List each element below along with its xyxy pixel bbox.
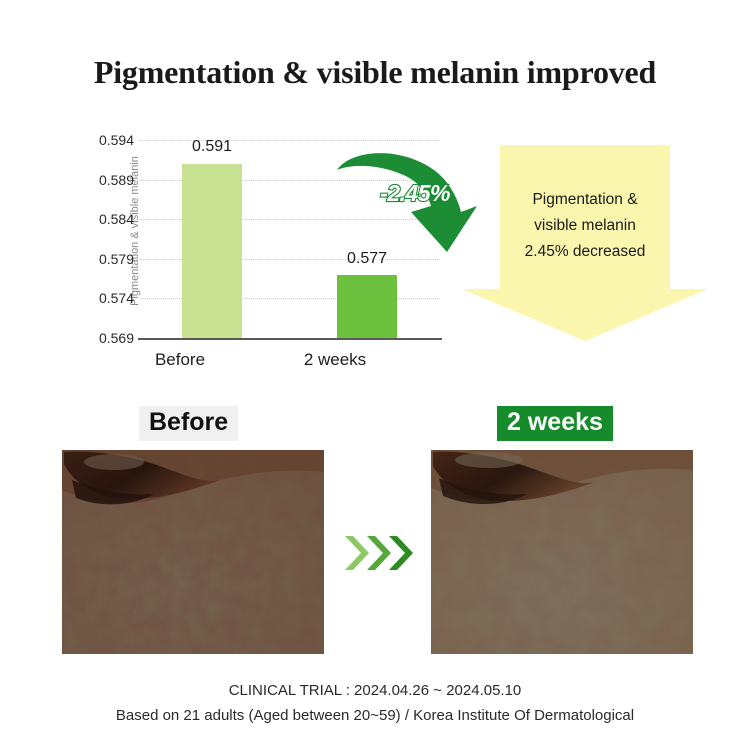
y-tick-label: 0.574 [82, 290, 134, 306]
bar-chart: Pigmentation & visible melanin 0.594 0.5… [52, 130, 452, 380]
badge-2-weeks: 2 weeks [497, 406, 613, 441]
bar-before [182, 164, 242, 338]
progress-chevrons-icon [343, 528, 413, 578]
poster-root: Pigmentation & visible melanin improved … [0, 0, 750, 750]
bar-value-label-before: 0.591 [157, 138, 267, 156]
footer-line-1: CLINICAL TRIAL : 2024.04.26 ~ 2024.05.10 [0, 678, 750, 703]
chart-plot-area: 0.591 0.577 -2.45% [140, 140, 440, 338]
badge-before: Before [139, 406, 238, 441]
skin-photo-2-weeks-image [431, 450, 693, 654]
footer: CLINICAL TRIAL : 2024.04.26 ~ 2024.05.10… [0, 678, 750, 728]
bar-2-weeks [337, 275, 397, 338]
y-tick-label: 0.569 [82, 330, 134, 346]
y-tick-label: 0.594 [82, 132, 134, 148]
callout-line-3: 2.45% decreased [462, 239, 708, 265]
callout-line-1: Pigmentation & [462, 187, 708, 213]
photo-before [62, 450, 324, 654]
chart-baseline [138, 338, 442, 340]
callout-arrow: Pigmentation & visible melanin 2.45% dec… [462, 145, 708, 341]
skin-photo-before-image [62, 450, 324, 654]
y-tick-label: 0.589 [82, 172, 134, 188]
y-tick-label: 0.579 [82, 251, 134, 267]
footer-line-2: Based on 21 adults (Aged between 20~59) … [0, 703, 750, 728]
callout-text: Pigmentation & visible melanin 2.45% dec… [462, 187, 708, 265]
page-title: Pigmentation & visible melanin improved [0, 54, 750, 91]
x-tick-label-2-weeks: 2 weeks [275, 350, 395, 370]
y-tick-label: 0.584 [82, 211, 134, 227]
photo-2-weeks [431, 450, 693, 654]
x-tick-label-before: Before [120, 350, 240, 370]
callout-line-2: visible melanin [462, 213, 708, 239]
